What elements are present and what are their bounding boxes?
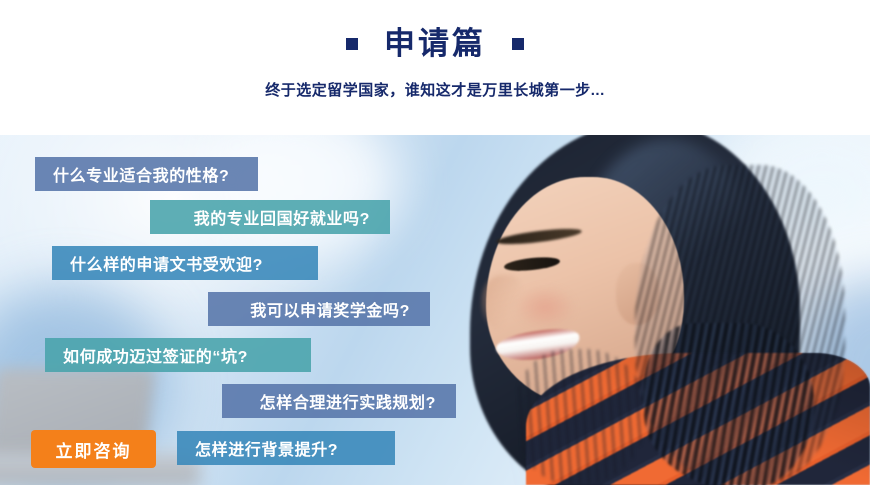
nose xyxy=(482,275,522,331)
student-portrait xyxy=(430,135,870,485)
question-text: 什么样的申请文书受欢迎? xyxy=(70,251,263,275)
cheek xyxy=(514,285,576,329)
question-bubble[interactable]: 怎样合理进行实践规划? xyxy=(222,384,456,418)
question-text: 什么专业适合我的性格? xyxy=(53,162,229,186)
question-bubble[interactable]: 怎样进行背景提升? xyxy=(177,431,395,465)
promo-banner: 申请篇 终于选定留学国家，谁知这才是万里长城第一步... xyxy=(0,0,870,485)
hair-front xyxy=(644,323,814,485)
consult-now-button[interactable]: 立即咨询 xyxy=(31,430,156,468)
square-bullet-left-icon xyxy=(346,38,358,50)
question-text: 怎样合理进行实践规划? xyxy=(260,389,436,413)
hair-wisp xyxy=(516,349,646,485)
question-text: 我的专业回国好就业吗? xyxy=(194,205,370,229)
question-text: 我可以申请奖学金吗? xyxy=(250,297,410,321)
page-subtitle: 终于选定留学国家，谁知这才是万里长城第一步... xyxy=(0,79,870,100)
question-bubble[interactable]: 我的专业回国好就业吗? xyxy=(150,200,390,234)
title-row: 申请篇 xyxy=(0,26,870,62)
question-bubble[interactable]: 如何成功迈过签证的“坑? xyxy=(45,338,311,372)
banner-header: 申请篇 终于选定留学国家，谁知这才是万里长城第一步... xyxy=(0,0,870,135)
question-bubble[interactable]: 什么样的申请文书受欢迎? xyxy=(52,246,318,280)
question-text: 怎样进行背景提升? xyxy=(195,436,338,460)
question-bubble[interactable]: 我可以申请奖学金吗? xyxy=(208,292,430,326)
question-bubble[interactable]: 什么专业适合我的性格? xyxy=(35,157,258,191)
question-text: 如何成功迈过签证的“坑? xyxy=(63,343,248,367)
page-title: 申请篇 xyxy=(384,26,486,62)
square-bullet-right-icon xyxy=(512,38,524,50)
